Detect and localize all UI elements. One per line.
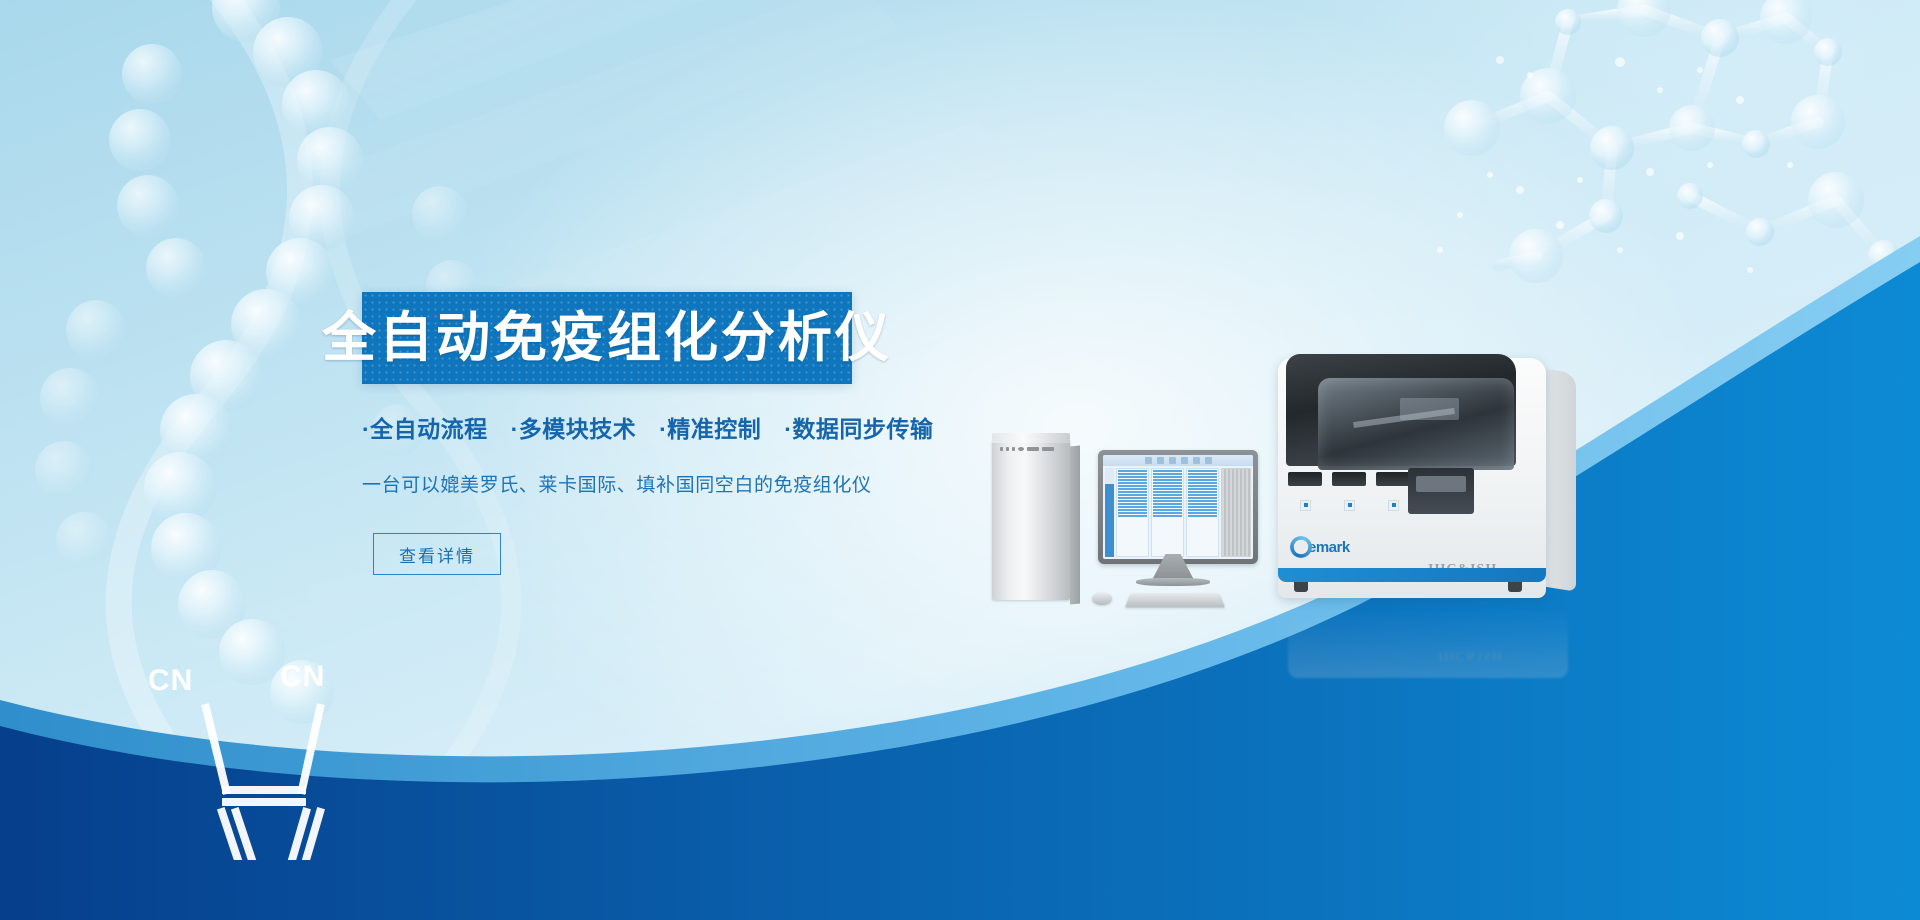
chemical-structure-decoration: CN CN	[130, 630, 430, 860]
slide-rack-2	[1151, 468, 1184, 557]
view-details-button[interactable]: 查看详情	[373, 533, 501, 575]
pc-tower-ports	[1000, 446, 1062, 452]
status-led-2	[1344, 500, 1355, 511]
page-description: 一台可以媲美罗氏、莱卡国际、填补国同空白的免疫组化仪	[362, 470, 872, 497]
feature-label-3: 精准控制	[667, 416, 761, 442]
status-led-1	[1300, 500, 1311, 511]
feature-item-2: ·多模块技术	[511, 416, 637, 442]
monitor-screen	[1103, 455, 1253, 559]
brand-logo-text: emark	[1308, 539, 1350, 556]
product-image-group: emark IHC&ISH IHC&ISH	[980, 330, 1600, 650]
keyboard	[1125, 593, 1225, 607]
feature-bullet-2: ·	[511, 416, 519, 442]
analyzer-reflection: IHC&ISH	[1288, 608, 1568, 678]
drawer-slot-2	[1332, 472, 1366, 486]
analyzer-machine: emark IHC&ISH IHC&ISH	[1260, 340, 1590, 630]
feature-bullet-1: ·	[362, 416, 370, 442]
software-sidebar	[1105, 468, 1114, 557]
chem-label-right: CN	[280, 660, 325, 693]
feature-item-3: ·精准控制	[659, 416, 761, 442]
software-workspace	[1103, 466, 1253, 559]
feature-item-4: ·数据同步传输	[784, 416, 933, 442]
analyzer-foot-right	[1508, 582, 1522, 592]
monitor-base	[1136, 578, 1210, 586]
feature-label-2: 多模块技术	[519, 416, 637, 442]
brand-logo: emark	[1290, 536, 1350, 558]
feature-item-1: ·全自动流程	[362, 416, 488, 442]
analyzer-front-panel	[1288, 472, 1488, 524]
feature-list: ·全自动流程 ·多模块技术 ·精准控制 ·数据同步传输	[362, 410, 982, 444]
slide-rack-1	[1116, 468, 1149, 557]
analyzer-reflection-text: IHC&ISH	[1438, 648, 1503, 664]
feature-label-4: 数据同步传输	[792, 416, 933, 442]
monitor	[1098, 450, 1258, 564]
drawer-slot-3	[1376, 472, 1410, 486]
reagent-panel	[1221, 468, 1251, 557]
status-led-3	[1388, 500, 1399, 511]
drawer-slot-1	[1288, 472, 1322, 486]
analyzer-glass-window	[1318, 378, 1514, 470]
analyzer-foot-left	[1294, 582, 1308, 592]
page-title: 全自动免疫组化分析仪	[322, 311, 892, 365]
analyzer-blue-stripe	[1278, 568, 1546, 582]
feature-label-1: 全自动流程	[370, 416, 488, 442]
mouse	[1092, 592, 1112, 605]
reagent-carousel	[1408, 468, 1474, 514]
slide-rack-3	[1186, 468, 1219, 557]
hero-banner: CN CN	[0, 0, 1920, 920]
software-toolbar	[1103, 455, 1253, 466]
brand-swoosh-icon	[1290, 536, 1312, 558]
pc-tower	[992, 440, 1070, 600]
analyzer-hood	[1286, 354, 1516, 466]
title-banner-box: 全自动免疫组化分析仪	[362, 292, 852, 384]
pc-tower-top	[992, 433, 1070, 443]
chem-label-left: CN	[148, 664, 193, 697]
molecule-lattice	[1437, 0, 1900, 283]
